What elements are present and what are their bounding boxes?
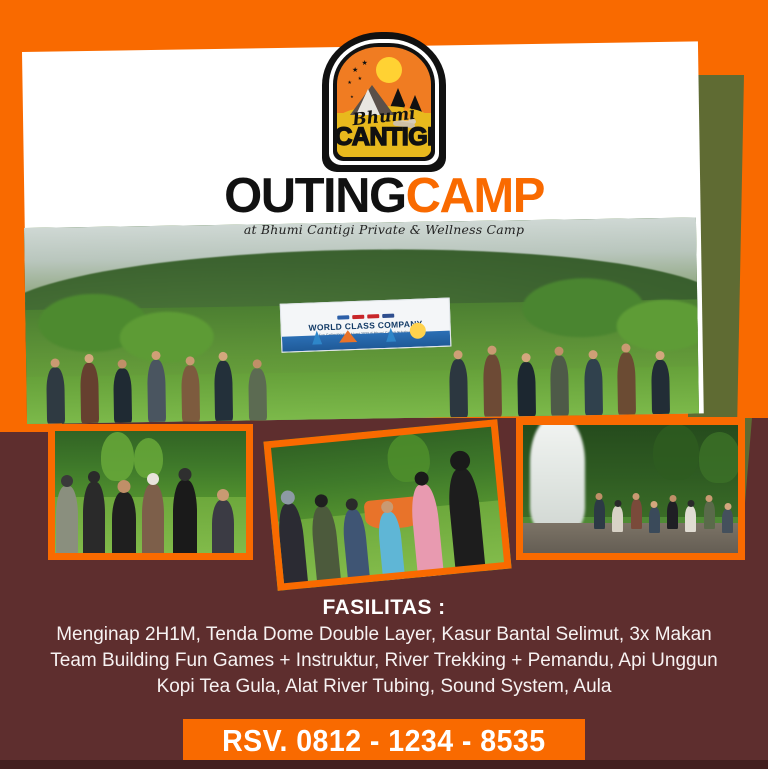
star-icon: ★ <box>358 76 362 83</box>
facilities-heading: FASILITAS : <box>0 596 768 620</box>
crowd-person <box>80 363 99 423</box>
star-icon: ★ <box>352 67 358 74</box>
banner-tree-icon <box>386 328 397 342</box>
leaf <box>101 432 134 481</box>
photo-person <box>594 499 605 529</box>
crowd-person <box>114 368 133 422</box>
leaf <box>699 432 740 483</box>
crowd-person <box>449 359 468 417</box>
reservation-banner[interactable]: RSV. 0812 - 1234 - 8535 <box>183 719 585 763</box>
crowd-person <box>483 355 502 417</box>
page-title: OUTINGCAMP <box>0 172 768 221</box>
event-banner: WORLD CLASS COMPANY Fun Gathering 3 - 4 … <box>280 298 452 353</box>
facilities-line: Team Building Fun Games + Instruktur, Ri… <box>0 648 768 674</box>
facilities-list: Menginap 2H1M, Tenda Dome Double Layer, … <box>0 622 768 700</box>
crowd-person <box>584 359 603 415</box>
leaf <box>653 424 699 481</box>
crowd-person <box>147 360 166 422</box>
star-icon: ★ <box>361 60 367 67</box>
photo-person <box>685 506 696 532</box>
crowd-person <box>517 362 536 416</box>
facilities-line: Kopi Tea Gula, Alat River Tubing, Sound … <box>0 674 768 700</box>
hero-photo: WORLD CLASS COMPANY Fun Gathering 3 - 4 … <box>24 217 699 424</box>
gallery-photo-3 <box>516 418 745 560</box>
photo-person <box>112 492 136 560</box>
waterfall <box>530 418 585 529</box>
leaf <box>134 438 163 479</box>
reservation-phone: RSV. 0812 - 1234 - 8535 <box>222 723 545 759</box>
crowd-person <box>550 355 569 415</box>
photo-person <box>612 506 623 532</box>
photo-person <box>631 499 642 529</box>
photo-person <box>56 486 78 560</box>
gallery-photo-2 <box>263 419 511 591</box>
photo-person <box>704 501 715 529</box>
gallery-photo-1 <box>48 424 253 560</box>
photo-person <box>173 480 197 560</box>
badge-face: ★ ★ ★ ★ ★ Bhumi CANTIGI <box>333 43 435 161</box>
photo-person <box>649 507 660 533</box>
crowd-person <box>248 368 267 420</box>
facilities-line: Menginap 2H1M, Tenda Dome Double Layer, … <box>0 622 768 648</box>
crowd-person <box>46 367 65 423</box>
banner-tent-icon <box>339 331 357 344</box>
crowd-person <box>617 352 636 414</box>
page-subtitle: at Bhumi Cantigi Private & Wellness Camp <box>0 222 768 237</box>
badge-sky: ★ ★ ★ ★ ★ Bhumi CANTIGI <box>337 47 431 157</box>
crowd-person <box>651 360 670 414</box>
photo-person <box>142 484 164 560</box>
poster-root: WORLD CLASS COMPANY Fun Gathering 3 - 4 … <box>0 0 768 769</box>
bottom-strip <box>0 760 768 769</box>
photo-person <box>212 500 234 560</box>
photo-person <box>667 501 678 529</box>
banner-tree-icon <box>312 331 323 345</box>
title-camp: CAMP <box>406 169 544 223</box>
crowd-person <box>181 365 200 421</box>
sun-icon <box>376 57 402 83</box>
title-outing: OUTING <box>224 169 406 223</box>
logo-block-name: CANTIGI <box>337 123 431 152</box>
bhumi-cantigi-logo: ★ ★ ★ ★ ★ Bhumi CANTIGI <box>322 32 446 172</box>
photo-person <box>83 482 105 560</box>
photo-person <box>722 509 733 533</box>
crowd-person <box>214 361 233 421</box>
